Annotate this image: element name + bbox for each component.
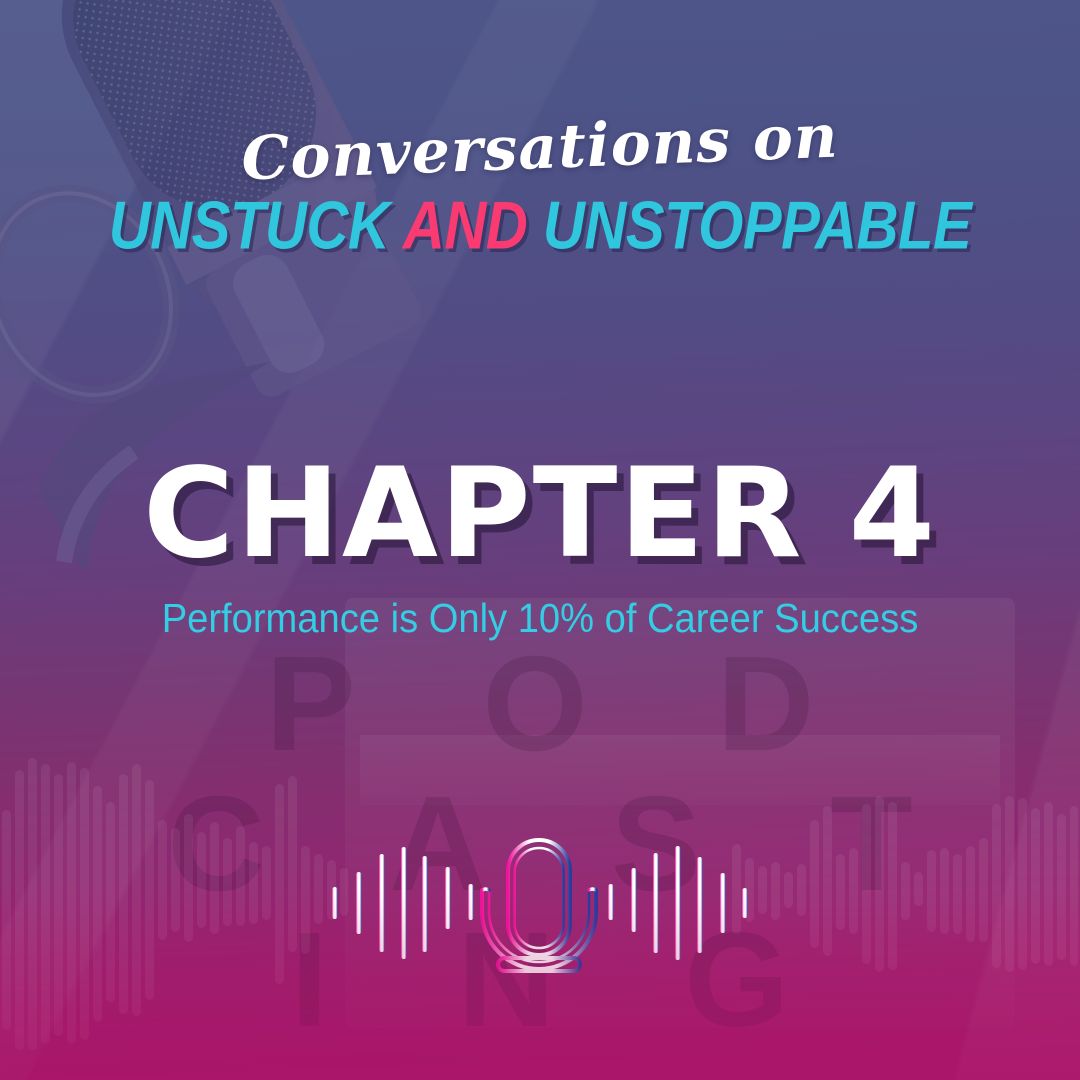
show-name-part-and: AND	[403, 188, 543, 264]
show-name-part-unstoppable: UNSTOPPABLE	[543, 188, 971, 264]
waveform-bars-right	[608, 846, 748, 960]
show-name-part-unstuck: UNSTUCK	[109, 188, 403, 264]
page-subtitle: Performance is Only 10% of Career Succes…	[38, 598, 1042, 639]
background-waveform-left	[0, 750, 350, 1080]
microphone-icon	[482, 840, 596, 971]
waveform-bars-left	[332, 847, 474, 959]
show-name: UNSTUCK AND UNSTOPPABLE	[0, 193, 1080, 260]
page-title: CHAPTER 4	[0, 452, 1080, 576]
podcast-chapter-cover: P O D C A S T I N G	[0, 0, 1080, 1080]
background-waveform-right	[730, 750, 1080, 1080]
audio-waveform-graphic	[330, 828, 750, 973]
